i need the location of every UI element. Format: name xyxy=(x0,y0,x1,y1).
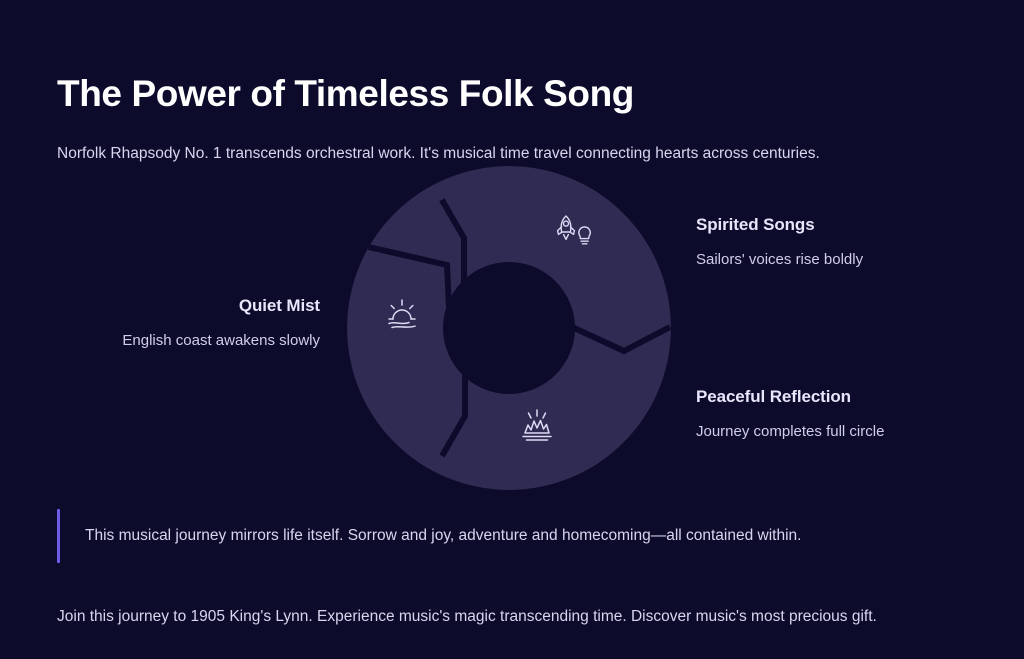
segment-description: Journey completes full circle xyxy=(696,421,884,443)
slide-root: The Power of Timeless Folk Song Norfolk … xyxy=(0,0,1024,659)
page-title: The Power of Timeless Folk Song xyxy=(57,70,634,118)
quote-text: This musical journey mirrors life itself… xyxy=(85,525,801,547)
segment-label-quiet-mist: Quiet Mist English coast awakens slowly xyxy=(0,294,320,352)
segment-label-peaceful-reflection: Peaceful Reflection Journey completes fu… xyxy=(696,385,884,443)
segment-title: Peaceful Reflection xyxy=(696,385,884,409)
donut-chart xyxy=(347,166,671,490)
closing-paragraph: Join this journey to 1905 King's Lynn. E… xyxy=(57,606,877,628)
segment-description: English coast awakens slowly xyxy=(0,330,320,352)
quote-accent-bar xyxy=(57,509,60,563)
segment-title: Spirited Songs xyxy=(696,213,863,237)
segment-label-spirited-songs: Spirited Songs Sailors' voices rise bold… xyxy=(696,213,863,271)
segment-title: Quiet Mist xyxy=(0,294,320,318)
segment-description: Sailors' voices rise boldly xyxy=(696,249,863,271)
page-subtitle: Norfolk Rhapsody No. 1 transcends orches… xyxy=(57,143,820,165)
donut-segments xyxy=(347,166,671,490)
pull-quote: This musical journey mirrors life itself… xyxy=(57,509,967,563)
